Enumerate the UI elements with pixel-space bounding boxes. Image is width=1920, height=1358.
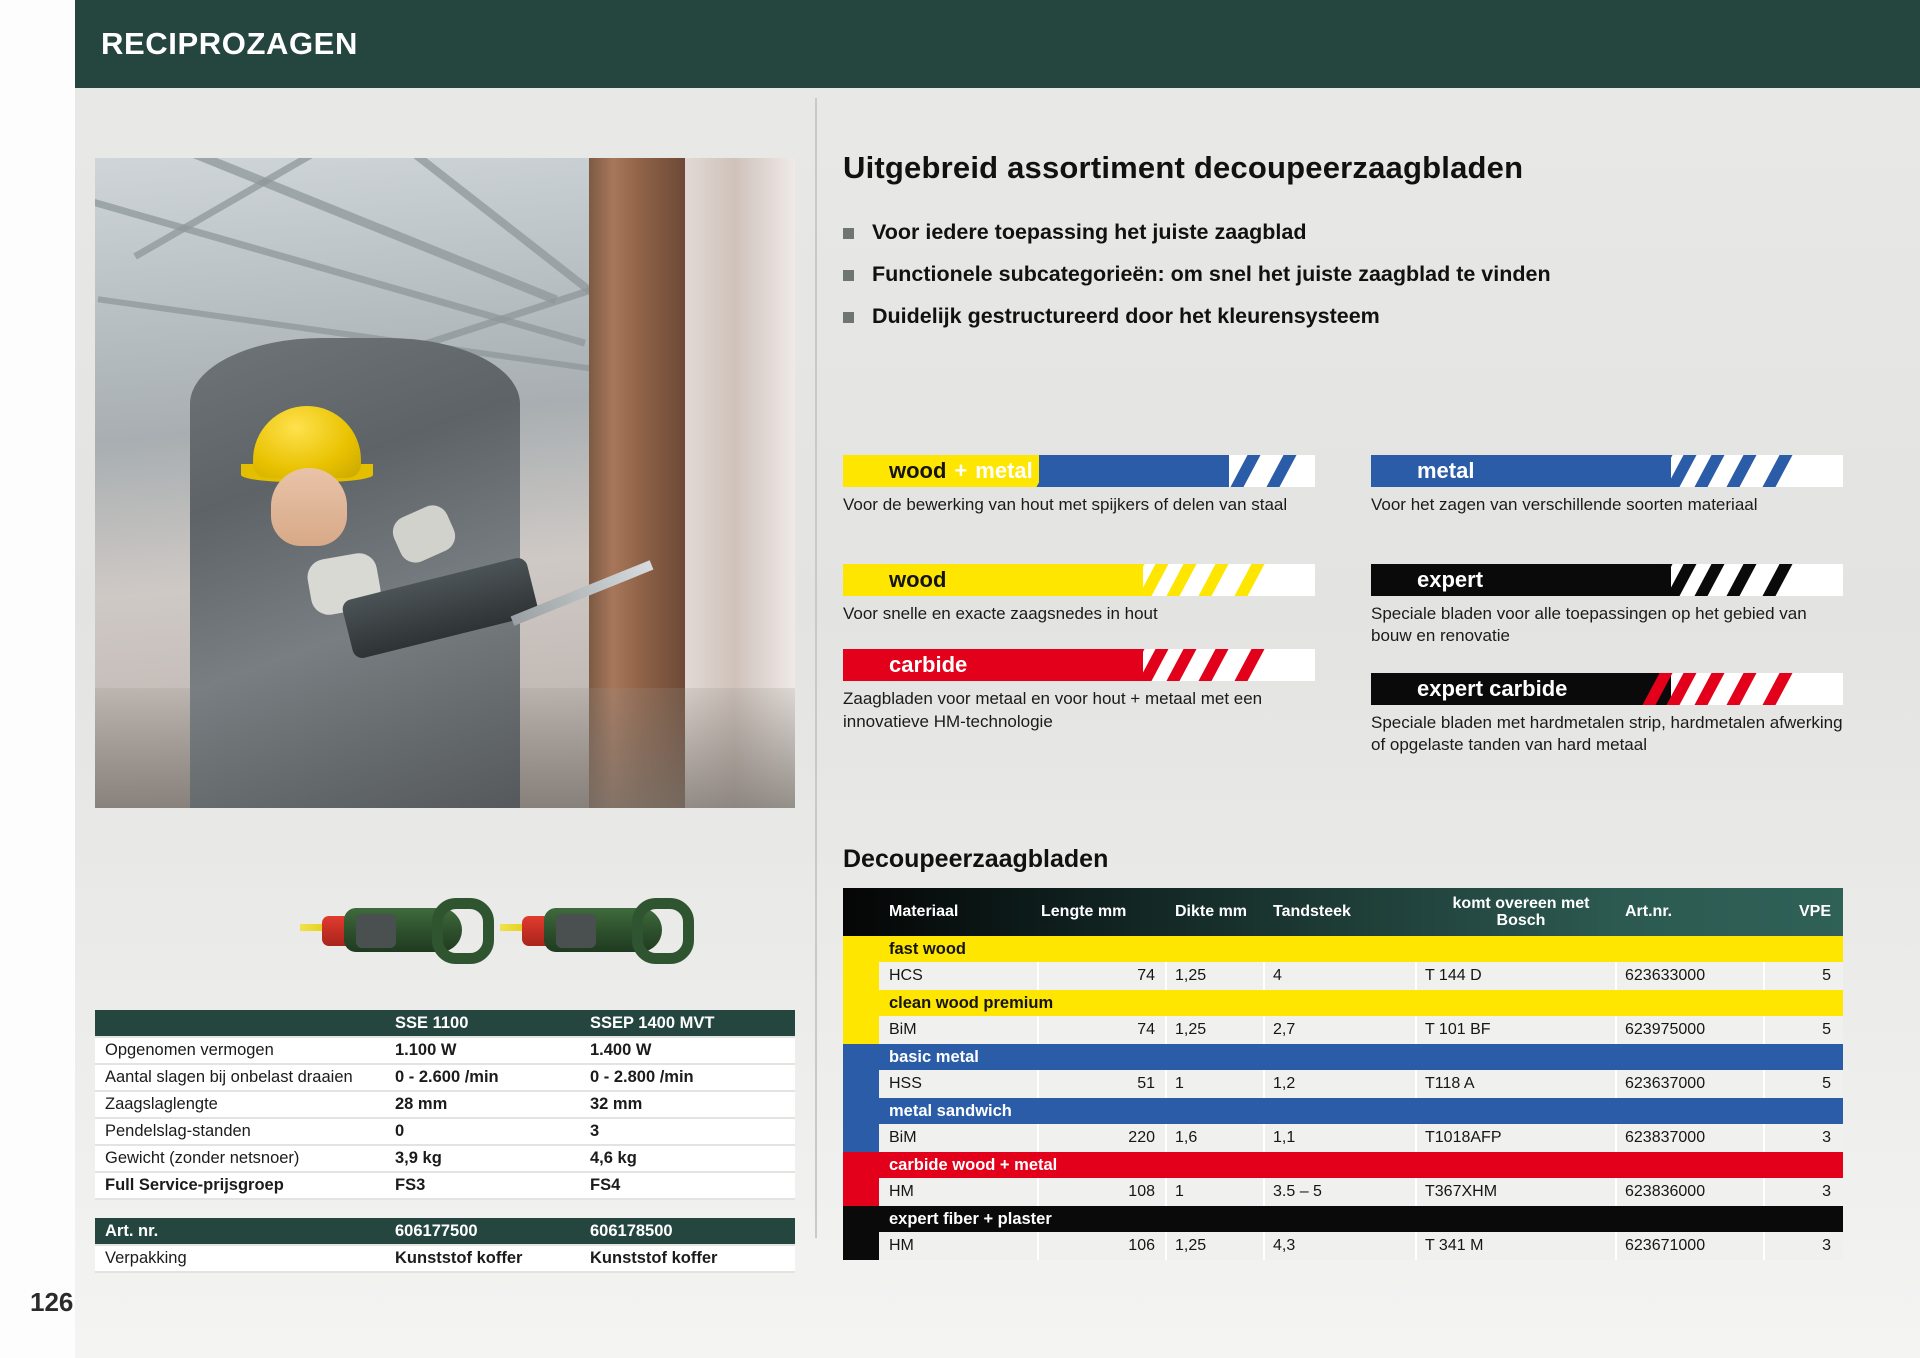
blade-cell-dikte: 1 [1167, 1070, 1265, 1098]
blade-category-row: expert fiber + plaster [843, 1206, 1843, 1232]
blade-category-label: fast wood [879, 940, 966, 959]
spec-value-1: 28 mm [395, 1095, 590, 1114]
bullet-text: Functionele subcategorieën: om snel het … [872, 262, 1551, 287]
category-description: Speciale bladen voor alle toepassingen o… [1371, 603, 1843, 649]
bullet-square-icon [843, 270, 854, 281]
blade-cell-bosch: T 101 BF [1417, 1016, 1617, 1044]
photo-worker-face [271, 468, 347, 546]
blade-cell-lengte: 74 [1039, 962, 1167, 990]
category-description: Voor het zagen van verschillende soorten… [1371, 494, 1843, 540]
spec-label: Opgenomen vermogen [95, 1041, 395, 1060]
blade-category-label: clean wood premium [879, 994, 1053, 1013]
blade-cell-bosch: T367XHM [1417, 1178, 1617, 1206]
spec-label: Zaagslaglengte [95, 1095, 395, 1114]
category-description: Zaagbladen voor metaal en voor hout + me… [843, 688, 1315, 734]
spec-value-1: 1.100 W [395, 1041, 590, 1060]
blade-cell-tandsteek: 4,3 [1265, 1232, 1417, 1260]
spec-artnr-label: Art. nr. [95, 1222, 395, 1241]
col-header-bosch-line1: komt overeen met [1453, 895, 1590, 912]
page-number: 126 [30, 1287, 73, 1318]
blade-cell-bosch: T 144 D [1417, 962, 1617, 990]
spec-value-1: Kunststof koffer [395, 1249, 590, 1268]
blade-cell-materiaal: HSS [879, 1070, 1039, 1098]
blade-cell-materiaal: HCS [879, 962, 1039, 990]
table-row: HM10813.5 – 5T367XHM6238360003 [843, 1178, 1843, 1206]
banner-expert: expert [1371, 564, 1843, 596]
banner-label-plus: + [954, 458, 967, 484]
blade-category-label: expert fiber + plaster [879, 1210, 1052, 1229]
category-metal: metal Voor het zagen van verschillende s… [1371, 455, 1843, 540]
category-wood-metal: wood + metal Voor de bewerking van hout … [843, 455, 1315, 540]
bullet-text: Duidelijk gestructureerd door het kleure… [872, 304, 1380, 329]
blade-cell-artnr: 623837000 [1617, 1124, 1765, 1152]
blade-category-label: basic metal [879, 1048, 979, 1067]
banner-label: expert carbide [1417, 676, 1567, 702]
blade-cell-dikte: 1,6 [1167, 1124, 1265, 1152]
blade-table-header: Materiaal Lengte mm Dikte mm Tandsteek k… [843, 888, 1843, 936]
table-row: BiM2201,61,1T1018AFP6238370003 [843, 1124, 1843, 1152]
column-divider [815, 98, 817, 1238]
blade-cell-lengte: 106 [1039, 1232, 1167, 1260]
spec-value-1: 3,9 kg [395, 1149, 590, 1168]
blade-category-row: carbide wood + metal [843, 1152, 1843, 1178]
banner-wood-metal: wood + metal [843, 455, 1315, 487]
blade-cell-artnr: 623671000 [1617, 1232, 1765, 1260]
blade-cell-lengte: 74 [1039, 1016, 1167, 1044]
spec-artnr-header-row: Art. nr. 606177500 606178500 [95, 1218, 795, 1246]
spec-value-1: 0 [395, 1122, 590, 1141]
table-row: Aantal slagen bij onbelast draaien 0 - 2… [95, 1065, 795, 1092]
right-column: Uitgebreid assortiment decoupeerzaagblad… [843, 150, 1843, 346]
specification-table: SSE 1100 SSEP 1400 MVT Opgenomen vermoge… [95, 1010, 795, 1273]
blade-category-label: metal sandwich [879, 1102, 1012, 1121]
blade-cell-vpe: 5 [1765, 962, 1843, 990]
spec-value-2: 3 [590, 1122, 795, 1141]
spec-value-2: 0 - 2.800 /min [590, 1068, 795, 1087]
bullet-text: Voor iedere toepassing het juiste zaagbl… [872, 220, 1306, 245]
list-item: Voor iedere toepassing het juiste zaagbl… [843, 220, 1843, 245]
spec-artnr-col2: 606178500 [590, 1222, 795, 1241]
category-expert-carbide: expert carbide Speciale bladen met hardm… [1371, 673, 1843, 758]
page-title: RECIPROZAGEN [101, 26, 358, 62]
table-row: Opgenomen vermogen 1.100 W 1.400 W [95, 1038, 795, 1065]
table-row: Zaagslaglengte 28 mm 32 mm [95, 1092, 795, 1119]
blade-cell-tandsteek: 3.5 – 5 [1265, 1178, 1417, 1206]
blade-category-band [843, 1232, 879, 1260]
col-header-dikte: Dikte mm [1167, 903, 1265, 921]
table-row: HCS741,254T 144 D6236330005 [843, 962, 1843, 990]
blade-cell-artnr: 623836000 [1617, 1178, 1765, 1206]
col-header-bosch: komt overeen met Bosch [1417, 895, 1617, 930]
spec-value-2: FS4 [590, 1176, 795, 1195]
blade-cell-vpe: 5 [1765, 1016, 1843, 1044]
blade-category-row: fast wood [843, 936, 1843, 962]
banner-expert-carbide: expert carbide [1371, 673, 1843, 705]
blade-cell-dikte: 1,25 [1167, 1232, 1265, 1260]
blade-cell-bosch: T1018AFP [1417, 1124, 1617, 1152]
banner-wood: wood [843, 564, 1315, 596]
spec-header-col1: SSE 1100 [395, 1014, 590, 1033]
blade-cell-lengte: 220 [1039, 1124, 1167, 1152]
banner-metal: metal [1371, 455, 1843, 487]
banner-label: expert [1417, 567, 1483, 593]
spec-header-col2: SSEP 1400 MVT [590, 1014, 795, 1033]
blade-table-body: fast woodHCS741,254T 144 D6236330005clea… [843, 936, 1843, 1260]
col-header-lengte: Lengte mm [1039, 903, 1167, 921]
col-header-materiaal: Materiaal [879, 903, 1039, 921]
product-image-sse-1100 [300, 890, 500, 976]
col-header-vpe: VPE [1765, 903, 1843, 921]
blade-cell-artnr: 623637000 [1617, 1070, 1765, 1098]
blade-cell-dikte: 1,25 [1167, 1016, 1265, 1044]
banner-label-metal: metal [975, 458, 1032, 484]
spec-header-row: SSE 1100 SSEP 1400 MVT [95, 1010, 795, 1038]
blade-category-label: carbide wood + metal [879, 1156, 1057, 1175]
blade-cell-vpe: 3 [1765, 1232, 1843, 1260]
category-column-right: metal Voor het zagen van verschillende s… [1371, 455, 1843, 782]
blade-cell-tandsteek: 1,1 [1265, 1124, 1417, 1152]
hero-photo [95, 158, 795, 808]
table-row: Verpakking Kunststof koffer Kunststof ko… [95, 1246, 795, 1273]
blade-table-title: Decoupeerzaagbladen [843, 845, 1843, 874]
bullet-list: Voor iedere toepassing het juiste zaagbl… [843, 220, 1843, 329]
banner-label: metal [1417, 458, 1474, 484]
blade-category-row: clean wood premium [843, 990, 1843, 1016]
blade-table: Materiaal Lengte mm Dikte mm Tandsteek k… [843, 888, 1843, 1260]
bullet-square-icon [843, 312, 854, 323]
blade-category-band [843, 962, 879, 990]
spec-value-2: 32 mm [590, 1095, 795, 1114]
banner-label-wood: wood [889, 458, 946, 484]
spec-value-2: 1.400 W [590, 1041, 795, 1060]
spec-table-gap [95, 1200, 795, 1218]
blade-cell-bosch: T 341 M [1417, 1232, 1617, 1260]
col-header-tandsteek: Tandsteek [1265, 903, 1417, 921]
blade-cell-artnr: 623975000 [1617, 1016, 1765, 1044]
blade-cell-tandsteek: 1,2 [1265, 1070, 1417, 1098]
banner-carbide: carbide [843, 649, 1315, 681]
list-item: Duidelijk gestructureerd door het kleure… [843, 304, 1843, 329]
blade-cell-tandsteek: 2,7 [1265, 1016, 1417, 1044]
page-header: RECIPROZAGEN [75, 0, 1920, 88]
spec-artnr-col1: 606177500 [395, 1222, 590, 1241]
category-description: Speciale bladen met hardmetalen strip, h… [1371, 712, 1843, 758]
blade-cell-dikte: 1,25 [1167, 962, 1265, 990]
blade-category-band [843, 1070, 879, 1098]
blade-cell-bosch: T118 A [1417, 1070, 1617, 1098]
blade-category-band [843, 1016, 879, 1044]
blade-cell-materiaal: HM [879, 1178, 1039, 1206]
category-wood: wood Voor snelle en exacte zaagsnedes in… [843, 564, 1315, 625]
category-carbide: carbide Zaagbladen voor metaal en voor h… [843, 649, 1315, 734]
category-description: Voor snelle en exacte zaagsnedes in hout [843, 603, 1315, 625]
product-images [300, 880, 800, 990]
catalog-page: RECIPROZAGEN [0, 0, 1920, 1358]
blade-cell-materiaal: BiM [879, 1016, 1039, 1044]
blade-cell-lengte: 108 [1039, 1178, 1167, 1206]
banner-label: wood [889, 567, 946, 593]
spec-label: Aantal slagen bij onbelast draaien [95, 1068, 395, 1087]
banner-label: carbide [889, 652, 967, 678]
blade-cell-vpe: 3 [1765, 1178, 1843, 1206]
blade-cell-artnr: 623633000 [1617, 962, 1765, 990]
table-row: Gewicht (zonder netsnoer) 3,9 kg 4,6 kg [95, 1146, 795, 1173]
category-column-left: wood + metal Voor de bewerking van hout … [843, 455, 1315, 782]
section-title: Uitgebreid assortiment decoupeerzaagblad… [843, 150, 1843, 186]
spec-label: Pendelslag-standen [95, 1122, 395, 1141]
spec-label: Full Service-prijsgroep [95, 1176, 395, 1195]
blade-cell-vpe: 5 [1765, 1070, 1843, 1098]
bullet-square-icon [843, 228, 854, 239]
blade-cell-vpe: 3 [1765, 1124, 1843, 1152]
blade-cell-materiaal: BiM [879, 1124, 1039, 1152]
table-row: Pendelslag-standen 0 3 [95, 1119, 795, 1146]
product-image-ssep-1400-mvt [500, 890, 700, 976]
col-header-bosch-line2: Bosch [1497, 912, 1546, 929]
blade-category-row: basic metal [843, 1044, 1843, 1070]
list-item: Functionele subcategorieën: om snel het … [843, 262, 1843, 287]
table-row: HSS5111,2T118 A6236370005 [843, 1070, 1843, 1098]
spec-value-1: FS3 [395, 1176, 590, 1195]
blade-category-band [843, 1178, 879, 1206]
spec-label: Verpakking [95, 1249, 395, 1268]
spec-value-2: Kunststof koffer [590, 1249, 795, 1268]
blade-cell-tandsteek: 4 [1265, 962, 1417, 990]
blade-cell-materiaal: HM [879, 1232, 1039, 1260]
col-header-artnr: Art.nr. [1617, 903, 1765, 921]
blade-cell-dikte: 1 [1167, 1178, 1265, 1206]
spec-value-1: 0 - 2.600 /min [395, 1068, 590, 1087]
category-banner-grid: wood + metal Voor de bewerking van hout … [843, 455, 1843, 782]
blade-table-section: Decoupeerzaagbladen Materiaal Lengte mm … [843, 845, 1843, 1260]
spec-label: Gewicht (zonder netsnoer) [95, 1149, 395, 1168]
category-expert: expert Speciale bladen voor alle toepass… [1371, 564, 1843, 649]
category-description: Voor de bewerking van hout met spijkers … [843, 494, 1315, 540]
page-left-margin [0, 0, 75, 1358]
spec-value-2: 4,6 kg [590, 1149, 795, 1168]
table-row: BiM741,252,7T 101 BF6239750005 [843, 1016, 1843, 1044]
blade-category-band [843, 1124, 879, 1152]
blade-cell-lengte: 51 [1039, 1070, 1167, 1098]
table-row: Full Service-prijsgroep FS3 FS4 [95, 1173, 795, 1200]
blade-category-row: metal sandwich [843, 1098, 1843, 1124]
table-row: HM1061,254,3T 341 M6236710003 [843, 1232, 1843, 1260]
